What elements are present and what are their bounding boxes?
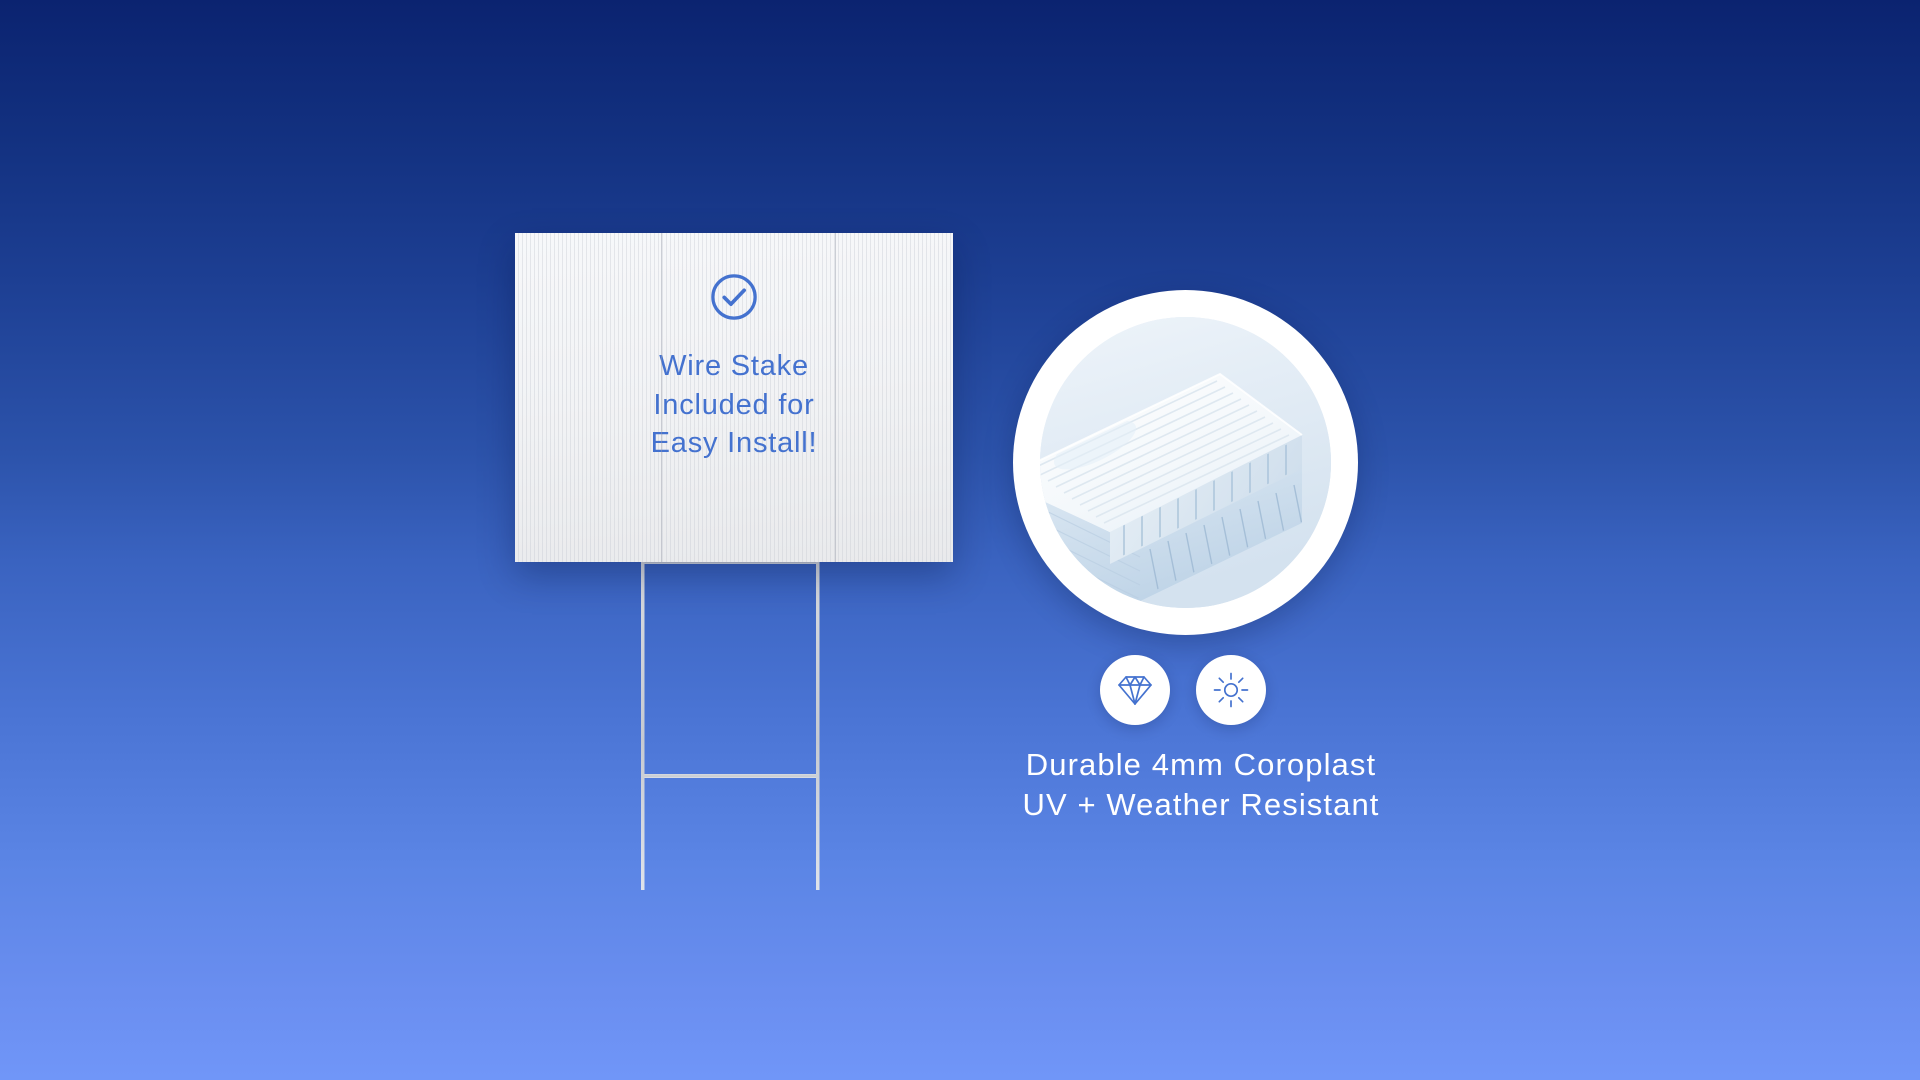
- yard-sign-group: Wire Stake Included for Easy Install!: [515, 233, 953, 893]
- feature-badges: [1100, 655, 1270, 725]
- coroplast-closeup: [1013, 290, 1358, 635]
- coroplast-caption: Durable 4mm Coroplast UV + Weather Resis…: [966, 745, 1436, 826]
- check-circle-icon: [708, 271, 760, 323]
- sign-seam-left: [661, 233, 662, 562]
- sign-line-2: Included for: [651, 386, 818, 425]
- sign-seam-right: [835, 233, 836, 562]
- sign-line-1: Wire Stake: [651, 347, 818, 386]
- sun-icon: [1211, 670, 1251, 710]
- badge-uv-resistant[interactable]: [1196, 655, 1266, 725]
- sign-line-3: Easy Install!: [651, 424, 818, 463]
- coroplast-photo: [1040, 317, 1331, 608]
- caption-line-2: UV + Weather Resistant: [966, 785, 1436, 825]
- sign-board: Wire Stake Included for Easy Install!: [515, 233, 953, 562]
- sign-headline: Wire Stake Included for Easy Install!: [651, 347, 818, 463]
- badge-durable[interactable]: [1100, 655, 1170, 725]
- diamond-icon: [1115, 670, 1155, 710]
- caption-line-1: Durable 4mm Coroplast: [966, 745, 1436, 785]
